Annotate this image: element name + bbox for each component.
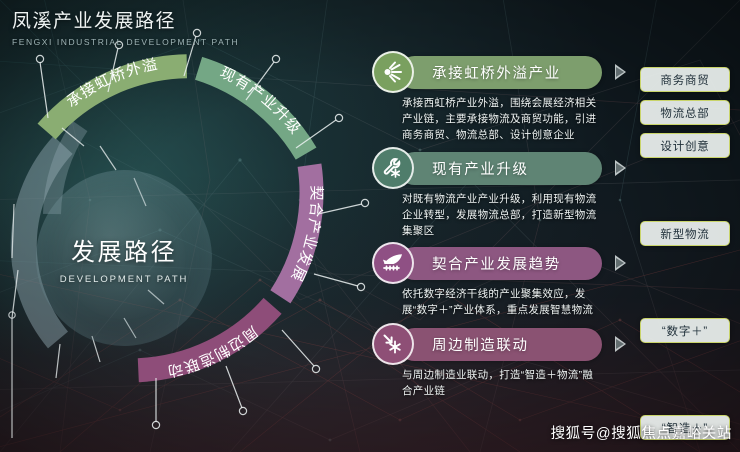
card-title: 承接虹桥外溢产业 [432, 62, 561, 83]
dial-left-pin [9, 312, 15, 438]
card-title: 周边制造联动 [432, 334, 529, 355]
card-description: 承接西虹桥产业外溢，围绕会展经济相关产业链，主要承接物流及商贸功能，引进商务商贸… [402, 95, 600, 143]
path-card[interactable]: 承接虹桥外溢产业 承接西虹桥产业外溢，围绕会展经济相关产业链，主要承接物流及商 [372, 56, 602, 143]
card-pill-3[interactable]: 周边制造联动 [398, 328, 602, 361]
card-title: 契合产业发展趋势 [432, 253, 561, 274]
outcome-tag-list: 商务商贸 物流总部 设计创意 新型物流 “数字＋” “智造＋” [640, 40, 730, 448]
chevron-right-inner-icon [616, 339, 624, 349]
card-pill-1[interactable]: 现有产业升级 [398, 152, 602, 185]
card-pill-0[interactable]: 承接虹桥外溢产业 [398, 56, 602, 89]
infographic-canvas: 凤溪产业发展路径 FENGXI INDUSTRIAL DEVELOPMENT P… [0, 0, 740, 452]
card-pill-2[interactable]: 契合产业发展趋势 [398, 247, 602, 280]
path-card-list: 承接虹桥外溢产业 承接西虹桥产业外溢，围绕会展经济相关产业链，主要承接物流及商 [372, 56, 602, 407]
path-card[interactable]: 现有产业升级 对既有物流产业产业升级，利用现有物流企业转型，发展物流总部，打造新… [372, 152, 602, 239]
inbound-burst-icon [372, 323, 414, 365]
tag-item[interactable]: 新型物流 [640, 221, 730, 246]
page-subtitle: FENGXI INDUSTRIAL DEVELOPMENT PATH [12, 37, 239, 47]
hub-label-en: DEVELOPMENT PATH [60, 274, 189, 285]
tag-item[interactable]: 设计创意 [640, 133, 730, 158]
path-card[interactable]: 周边制造联动 与周边制造业联动，打造“ [372, 328, 602, 399]
radial-burst-icon [372, 51, 414, 93]
watermark: 搜狐号@搜狐焦点嘉峪关站 [551, 422, 732, 443]
chevron-right-inner-icon [616, 258, 624, 268]
card-description: 依托数字经济干线的产业聚集效应，发展“数字＋”产业体系，重点发展智慧物流 [402, 286, 600, 318]
wrench-icon [372, 147, 414, 189]
chevron-right-inner-icon [616, 163, 624, 173]
tag-item[interactable]: 商务商贸 [640, 67, 730, 92]
card-description: 与周边制造业联动，打造“智造＋物流”融合产业链 [402, 367, 600, 399]
page-title: 凤溪产业发展路径 [12, 6, 239, 33]
rocket-icon [372, 242, 414, 284]
hub-label-cn: 发展路径 [71, 232, 177, 267]
path-card[interactable]: 契合产业发展趋势 依托数字经济干线的产业聚集效应，发展“ [372, 247, 602, 318]
development-path-dial: 承接虹桥外溢 现有产业升级 契合产业发展 周边制造联动 [0, 18, 368, 448]
tag-item[interactable]: 物流总部 [640, 100, 730, 125]
page-header: 凤溪产业发展路径 FENGXI INDUSTRIAL DEVELOPMENT P… [12, 6, 239, 47]
dial-label-1: 现有产业升级 [217, 64, 304, 138]
chevron-right-inner-icon [616, 67, 624, 77]
dial-hub-text: 发展路径 DEVELOPMENT PATH [36, 170, 212, 346]
card-description: 对既有物流产业产业升级，利用现有物流企业转型，发展物流总部，打造新型物流集聚区 [402, 191, 600, 239]
card-title: 现有产业升级 [432, 158, 529, 179]
tag-item[interactable]: “数字＋” [640, 318, 730, 343]
